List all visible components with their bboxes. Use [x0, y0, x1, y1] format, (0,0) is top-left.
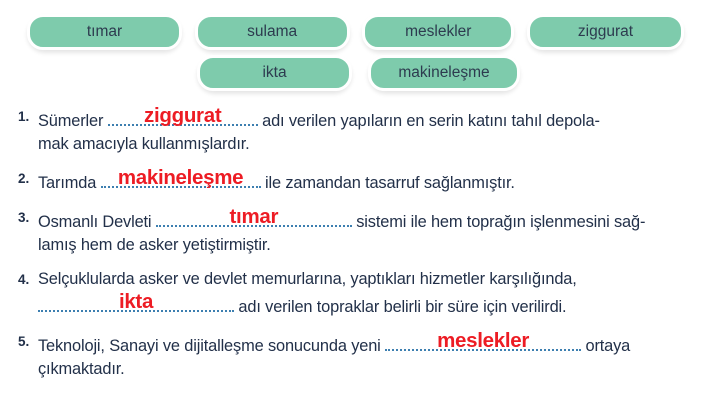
question-text-3: Osmanlı Devleti tımar sistemi ile hem to…	[38, 206, 698, 257]
question-item-3: 3. Osmanlı Devleti tımar sistemi ile hem…	[0, 206, 712, 257]
word-pill-sulama[interactable]: sulama	[195, 14, 350, 50]
question-2-dotted-line	[101, 167, 261, 188]
question-5-blank[interactable]: meslekler	[385, 330, 581, 351]
question-3-dotted-line	[156, 206, 352, 227]
word-pill-makinelesme-wrap[interactable]: makineleşme	[368, 55, 520, 91]
question-4-blank[interactable]: ikta	[38, 291, 234, 312]
question-2-before: Tarımda	[38, 174, 101, 192]
question-text-1: Sümerler ziggurat adı verilen yapıların …	[38, 105, 698, 156]
word-pill-timar-wrap[interactable]: tımar	[27, 14, 182, 50]
question-item-4: 4. Selçuklularda asker ve devlet memurla…	[0, 268, 712, 319]
question-item-1: 1. Sümerler ziggurat adı verilen yapılar…	[0, 105, 712, 156]
word-pill-ziggurat[interactable]: ziggurat	[527, 14, 684, 50]
question-4-dotted-line	[38, 291, 234, 312]
word-pill-ikta[interactable]: ikta	[197, 55, 352, 91]
word-pill-ziggurat-wrap[interactable]: ziggurat	[527, 14, 684, 50]
question-2-blank[interactable]: makineleşme	[101, 167, 261, 188]
word-pill-sulama-wrap[interactable]: sulama	[195, 14, 350, 50]
question-text-4: Selçuklularda asker ve devlet memurların…	[38, 268, 698, 319]
word-bank-row-2: ikta makineleşme	[0, 50, 712, 91]
question-5-before: Teknoloji, Sanayi ve dijitalleşme sonucu…	[38, 337, 385, 355]
word-pill-makinelesme[interactable]: makineleşme	[368, 55, 520, 91]
question-list: 1. Sümerler ziggurat adı verilen yapılar…	[0, 105, 712, 392]
question-item-5: 5. Teknoloji, Sanayi ve dijitalleşme son…	[0, 330, 712, 381]
question-number-2: 2.	[18, 167, 38, 186]
question-number-4: 4.	[18, 268, 38, 287]
question-number-1: 1.	[18, 105, 38, 124]
question-text-5: Teknoloji, Sanayi ve dijitalleşme sonucu…	[38, 330, 698, 381]
question-1-before: Sümerler	[38, 112, 108, 130]
question-4-after: adı verilen topraklar belirli bir süre i…	[234, 298, 566, 316]
word-pill-timar[interactable]: tımar	[27, 14, 182, 50]
word-bank-row-1: tımar sulama meslekler ziggurat	[0, 0, 712, 50]
question-1-blank[interactable]: ziggurat	[108, 105, 258, 126]
word-pill-ikta-wrap[interactable]: ikta	[197, 55, 352, 91]
question-2-after: ile zamandan tasarruf sağlanmıştır.	[261, 174, 515, 192]
word-pill-meslekler-wrap[interactable]: meslekler	[362, 14, 514, 50]
word-bank: tımar sulama meslekler ziggurat ikta mak…	[0, 0, 712, 91]
word-pill-meslekler[interactable]: meslekler	[362, 14, 514, 50]
question-text-2: Tarımda makineleşme ile zamandan tasarru…	[38, 167, 698, 195]
question-4-before: Selçuklularda asker ve devlet memurların…	[38, 270, 577, 288]
question-3-before: Osmanlı Devleti	[38, 213, 156, 231]
question-number-5: 5.	[18, 330, 38, 349]
question-number-3: 3.	[18, 206, 38, 225]
question-item-2: 2. Tarımda makineleşme ile zamandan tasa…	[0, 167, 712, 195]
question-5-dotted-line	[385, 330, 581, 351]
question-3-blank[interactable]: tımar	[156, 206, 352, 227]
question-1-dotted-line	[108, 105, 258, 126]
